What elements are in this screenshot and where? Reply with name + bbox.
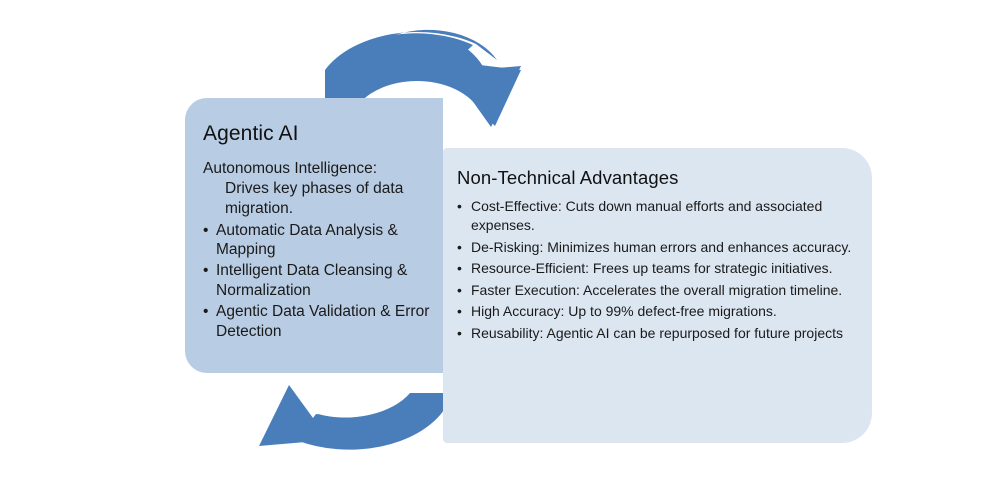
bullet-icon: •	[457, 281, 471, 300]
card-agentic-lead-line2: Drives key phases of data migration.	[225, 179, 451, 219]
card-advantages-list: •Cost-Effective: Cuts down manual effort…	[457, 197, 856, 342]
bottom-arrow-shape	[259, 385, 444, 450]
list-item: •Automatic Data Analysis & Mapping	[203, 221, 455, 261]
card-agentic-lead-line1: Autonomous Intelligence:	[203, 160, 377, 177]
card-advantages-title: Non-Technical Advantages	[457, 168, 856, 188]
list-item: •Reusability: Agentic AI can be repurpos…	[457, 324, 856, 343]
bullet-icon: •	[457, 238, 471, 257]
list-item: •Resource-Efficient: Frees up teams for …	[457, 259, 856, 278]
bullet-icon: •	[203, 261, 216, 281]
card-agentic-ai: Agentic AI Autonomous Intelligence: Driv…	[185, 98, 443, 373]
list-item-label: High Accuracy: Up to 99% defect-free mig…	[471, 303, 777, 319]
list-item-label: Reusability: Agentic AI can be repurpose…	[471, 325, 843, 341]
list-item: •Faster Execution: Accelerates the overa…	[457, 281, 856, 300]
bullet-icon: •	[203, 221, 216, 241]
list-item-label: Resource-Efficient: Frees up teams for s…	[471, 260, 833, 276]
list-item-label: Intelligent Data Cleansing & Normalizati…	[216, 262, 407, 299]
list-item-label: Cost-Effective: Cuts down manual efforts…	[471, 198, 822, 233]
cycle-diagram: Agentic AI Autonomous Intelligence: Driv…	[0, 0, 998, 480]
list-item: •Intelligent Data Cleansing & Normalizat…	[203, 261, 455, 301]
bullet-icon: •	[203, 302, 216, 322]
card-agentic-title: Agentic AI	[203, 122, 443, 145]
card-agentic-list: •Automatic Data Analysis & Mapping •Inte…	[203, 221, 455, 342]
list-item-label: Agentic Data Validation & Error Detectio…	[216, 303, 429, 340]
list-item: •Cost-Effective: Cuts down manual effort…	[457, 197, 856, 234]
list-item-label: Automatic Data Analysis & Mapping	[216, 222, 398, 259]
bullet-icon: •	[457, 324, 471, 343]
list-item: •Agentic Data Validation & Error Detecti…	[203, 302, 455, 342]
list-item: •De-Risking: Minimizes human errors and …	[457, 238, 856, 257]
bullet-icon: •	[457, 197, 471, 216]
card-non-technical-advantages: Non-Technical Advantages •Cost-Effective…	[443, 148, 872, 443]
bullet-icon: •	[457, 302, 471, 321]
card-agentic-lead: Autonomous Intelligence: Drives key phas…	[203, 159, 451, 218]
list-item: •High Accuracy: Up to 99% defect-free mi…	[457, 302, 856, 321]
list-item-label: Faster Execution: Accelerates the overal…	[471, 282, 842, 298]
bullet-icon: •	[457, 259, 471, 278]
list-item-label: De-Risking: Minimizes human errors and e…	[471, 239, 851, 255]
